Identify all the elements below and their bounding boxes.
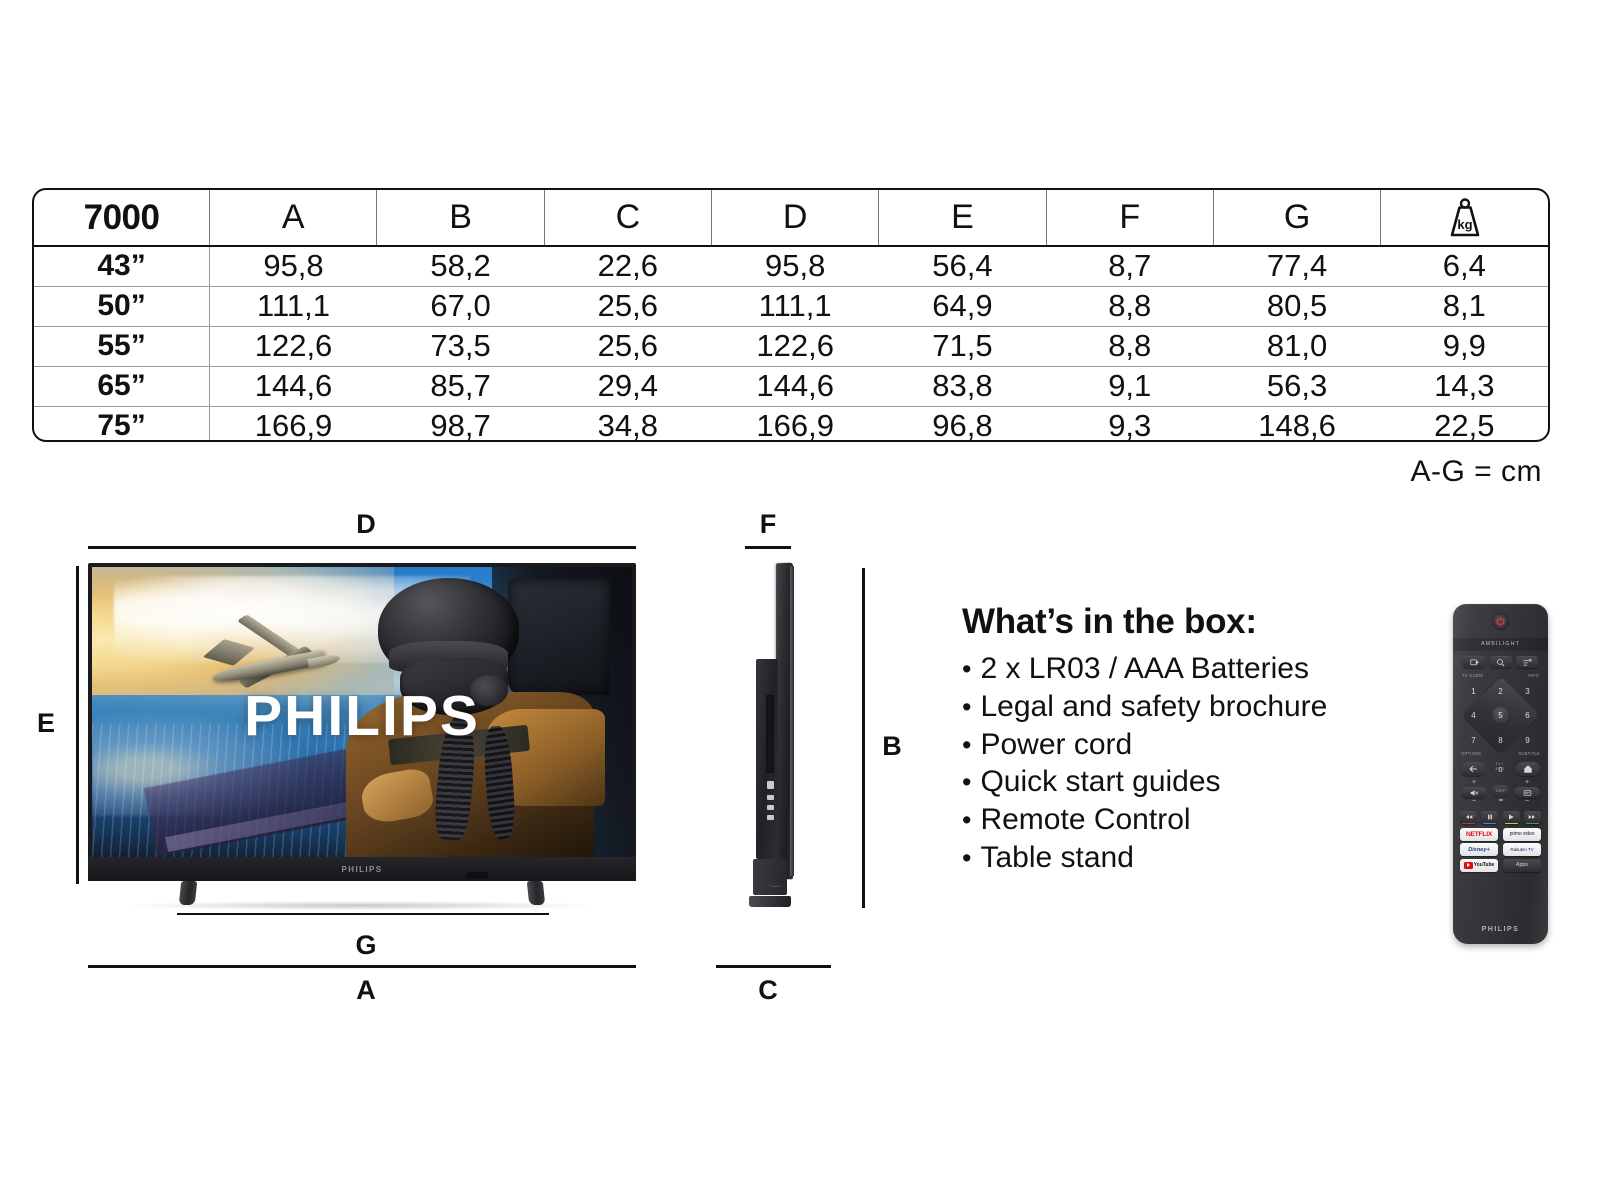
cell-55-c: 25,6 xyxy=(544,326,711,366)
remote-control: AMBILIGHT TV GU xyxy=(1453,604,1548,944)
remote-power-zone xyxy=(1460,604,1541,638)
status-led xyxy=(1499,799,1503,801)
volume-rocker[interactable]: + − xyxy=(1461,780,1487,806)
rakuten-tv-button[interactable]: Rakuten TV xyxy=(1503,843,1541,856)
row-size-75: 75” xyxy=(34,406,210,442)
source-input-button[interactable] xyxy=(1463,656,1485,668)
ambilight-label: AMBILIGHT xyxy=(1453,638,1548,651)
netflix-button[interactable]: NETFLIX xyxy=(1460,828,1498,841)
list-item: • 2 x LR03 / AAA Batteries xyxy=(962,650,1392,688)
bullet-icon: • xyxy=(962,732,971,759)
bullet-icon: • xyxy=(962,769,971,796)
cell-75-e: 96,8 xyxy=(879,406,1046,442)
zero-key-label: TV / EXIT xyxy=(1496,761,1506,771)
channel-minus-label: − xyxy=(1514,799,1540,805)
dim-line-g xyxy=(177,913,549,915)
cell-43-d: 95,8 xyxy=(712,246,879,286)
tv-drop-shadow xyxy=(124,901,594,910)
cell-65-weight: 14,3 xyxy=(1381,366,1548,406)
box-item-label: Quick start guides xyxy=(980,763,1220,801)
box-item-label: Remote Control xyxy=(980,801,1190,839)
play-button[interactable] xyxy=(1503,811,1520,824)
cell-65-g: 56,3 xyxy=(1213,366,1380,406)
unit-note: A-G = cm xyxy=(1410,455,1542,489)
key-8[interactable]: 8 xyxy=(1487,728,1514,753)
cell-65-d: 144,6 xyxy=(712,366,879,406)
fast-forward-button[interactable] xyxy=(1524,811,1541,824)
table-row: 55” 122,6 73,5 25,6 122,6 71,5 8,8 81,0 … xyxy=(34,326,1548,366)
tv-foot-right xyxy=(527,881,546,905)
box-item-label: Legal and safety brochure xyxy=(980,688,1327,726)
cell-55-d: 122,6 xyxy=(712,326,879,366)
cell-75-weight: 22,5 xyxy=(1381,406,1548,442)
rakuten-tv-label: Rakuten TV xyxy=(1510,847,1533,852)
cell-43-weight: 6,4 xyxy=(1381,246,1548,286)
channel-rocker[interactable]: + − xyxy=(1514,780,1540,806)
tv-antenna-port xyxy=(767,815,774,820)
cell-43-g: 77,4 xyxy=(1213,246,1380,286)
bullet-icon: • xyxy=(962,807,971,834)
table-col-header-d: D xyxy=(712,190,879,246)
channel-list-icon xyxy=(1523,789,1532,797)
list-item: • Table stand xyxy=(962,839,1392,877)
cell-55-b: 73,5 xyxy=(377,326,544,366)
cell-43-b: 58,2 xyxy=(377,246,544,286)
prime-video-button[interactable]: prime video xyxy=(1503,828,1541,841)
row-size-43: 43” xyxy=(34,246,210,286)
settings-list-button[interactable] xyxy=(1516,656,1538,668)
dimensions-table: 7000 A B C D E F G kg xyxy=(32,188,1550,442)
tv-usb-port-1 xyxy=(767,795,774,800)
cell-55-weight: 9,9 xyxy=(1381,326,1548,366)
dim-label-d: D xyxy=(336,511,396,538)
cell-43-e: 56,4 xyxy=(879,246,1046,286)
cell-75-b: 98,7 xyxy=(377,406,544,442)
cell-65-c: 29,4 xyxy=(544,366,711,406)
bullet-icon: • xyxy=(962,656,971,683)
app-row-3: YouTube Apps xyxy=(1460,859,1541,872)
screen-philips-wordmark: PHILIPS xyxy=(92,683,632,749)
fast-forward-icon xyxy=(1528,813,1536,821)
apps-button[interactable]: Apps xyxy=(1503,859,1541,872)
product-spec-sheet: 7000 A B C D E F G kg xyxy=(0,0,1600,1200)
table-col-header-e: E xyxy=(879,190,1046,246)
cell-43-c: 22,6 xyxy=(544,246,711,286)
apps-label: Apps xyxy=(1516,862,1528,868)
tv-ir-receiver xyxy=(466,872,488,879)
search-icon xyxy=(1496,658,1505,667)
tv-screen: PHILIPS xyxy=(92,567,632,857)
tv-hdmi-port xyxy=(767,781,774,789)
prime-video-label: prime video xyxy=(1510,832,1535,837)
table-row: 65” 144,6 85,7 29,4 144,6 83,8 9,1 56,3 … xyxy=(34,366,1548,406)
tv-port-recess xyxy=(766,695,774,773)
netflix-label: NETFLIX xyxy=(1466,831,1492,838)
cell-55-a: 122,6 xyxy=(210,326,377,366)
key-9[interactable]: 9 xyxy=(1514,728,1541,753)
tv-front-view: PHILIPS PHILIPS xyxy=(88,563,636,907)
pause-icon xyxy=(1486,813,1494,821)
disney-plus-label: Disney+ xyxy=(1468,847,1490,853)
back-arrow-icon xyxy=(1468,764,1478,774)
cell-50-f: 8,8 xyxy=(1046,286,1213,326)
keypad-info-label: INFO xyxy=(1528,673,1539,678)
cell-43-f: 8,7 xyxy=(1046,246,1213,286)
pause-color-strip xyxy=(1483,823,1496,824)
dim-label-e: E xyxy=(26,710,66,737)
table-model-header: 7000 xyxy=(34,190,210,246)
back-button[interactable] xyxy=(1461,762,1485,776)
remote-keypad: TV GUIDE INFO OPTIONS SUBTITLE 1 2 3 4 5… xyxy=(1460,673,1541,757)
tv-stand-feet xyxy=(88,881,636,907)
home-button[interactable] xyxy=(1516,762,1540,776)
box-item-label: Power cord xyxy=(980,726,1132,764)
pause-button[interactable] xyxy=(1481,811,1498,824)
tv-stand-neck-detail xyxy=(768,882,782,887)
tv-stand-neck xyxy=(753,859,787,895)
cell-65-a: 144,6 xyxy=(210,366,377,406)
dim-line-f xyxy=(745,546,791,549)
youtube-label: YouTube xyxy=(1474,862,1495,868)
volume-mute-icon xyxy=(1470,789,1479,797)
cell-50-b: 67,0 xyxy=(377,286,544,326)
key-7[interactable]: 7 xyxy=(1460,728,1487,753)
remote-rocker-row: + − CH·P + xyxy=(1460,778,1541,808)
youtube-button[interactable]: YouTube xyxy=(1460,859,1498,872)
table-col-header-weight: kg xyxy=(1381,190,1548,246)
channel-plus-label: + xyxy=(1514,780,1540,786)
rewind-icon xyxy=(1465,813,1473,821)
cell-50-g: 80,5 xyxy=(1213,286,1380,326)
disney-plus-button[interactable]: Disney+ xyxy=(1460,843,1498,856)
remote-nav-row: TV / EXIT 0 xyxy=(1460,759,1541,778)
key-6[interactable]: 6 xyxy=(1514,704,1541,729)
tv-stand-base xyxy=(749,896,791,907)
list-item: • Quick start guides xyxy=(962,763,1392,801)
dim-label-f: F xyxy=(748,511,788,538)
dim-label-b: B xyxy=(872,733,912,760)
whats-in-the-box-section: What’s in the box: • 2 x LR03 / AAA Batt… xyxy=(962,602,1392,877)
dim-line-d xyxy=(88,546,636,549)
table-row: 50” 111,1 67,0 25,6 111,1 64,9 8,8 80,5 … xyxy=(34,286,1548,326)
channel-play-button[interactable]: CH·P xyxy=(1493,785,1508,798)
key-3[interactable]: 3 xyxy=(1514,679,1541,704)
box-item-label: 2 x LR03 / AAA Batteries xyxy=(980,650,1309,688)
svg-text:kg: kg xyxy=(1457,217,1472,232)
dim-line-c xyxy=(716,965,831,968)
play-icon xyxy=(1507,813,1515,821)
key-4[interactable]: 4 xyxy=(1460,704,1487,729)
table-row: 75” 166,9 98,7 34,8 166,9 96,8 9,3 148,6… xyxy=(34,406,1548,442)
dim-line-e xyxy=(76,566,79,884)
settings-list-icon xyxy=(1523,658,1532,667)
tv-side-panel-edge xyxy=(790,566,794,876)
dim-line-a xyxy=(88,965,636,968)
forward-color-strip xyxy=(1526,823,1539,824)
jet-tail xyxy=(203,639,255,665)
cell-75-d: 166,9 xyxy=(712,406,879,442)
volume-rocker-body[interactable] xyxy=(1461,787,1487,798)
tv-usb-port-2 xyxy=(767,805,774,810)
table-col-header-c: C xyxy=(544,190,711,246)
table-col-header-f: F xyxy=(1046,190,1213,246)
power-icon xyxy=(1495,616,1506,627)
tv-foot-left xyxy=(179,881,198,905)
volume-plus-label: + xyxy=(1461,780,1487,786)
power-button[interactable] xyxy=(1492,613,1509,630)
table-col-header-a: A xyxy=(210,190,377,246)
cell-55-f: 8,8 xyxy=(1046,326,1213,366)
key-5[interactable]: 5 xyxy=(1487,704,1514,729)
app-row-2: Disney+ Rakuten TV xyxy=(1460,843,1541,856)
dim-line-b xyxy=(862,568,865,908)
cell-55-g: 81,0 xyxy=(1213,326,1380,366)
home-icon xyxy=(1523,764,1533,774)
cell-50-e: 64,9 xyxy=(879,286,1046,326)
table-col-header-g: G xyxy=(1213,190,1380,246)
cell-50-d: 111,1 xyxy=(712,286,879,326)
cell-75-a: 166,9 xyxy=(210,406,377,442)
rewind-color-strip xyxy=(1462,823,1475,824)
remote-playback-row xyxy=(1460,808,1541,826)
dim-label-c: C xyxy=(748,977,788,1004)
cell-75-c: 34,8 xyxy=(544,406,711,442)
volume-minus-label: − xyxy=(1461,799,1487,805)
list-item: • Power cord xyxy=(962,726,1392,764)
app-row-1: NETFLIX prime video xyxy=(1460,828,1541,841)
tv-rear-housing xyxy=(756,659,778,859)
key-2[interactable]: 2 xyxy=(1487,679,1514,704)
keypad-tv-guide-label: TV GUIDE xyxy=(1462,673,1483,678)
youtube-play-icon xyxy=(1464,862,1473,869)
numeric-keypad: 1 2 3 4 5 6 7 8 9 xyxy=(1460,679,1541,753)
box-section-title: What’s in the box: xyxy=(962,602,1392,642)
cell-75-g: 148,6 xyxy=(1213,406,1380,442)
channel-rocker-body[interactable] xyxy=(1514,787,1540,798)
tv-bezel: PHILIPS PHILIPS xyxy=(88,563,636,881)
row-size-55: 55” xyxy=(34,326,210,366)
weight-kg-icon: kg xyxy=(1448,198,1482,238)
table-row: 43” 95,8 58,2 22,6 95,8 56,4 8,7 77,4 6,… xyxy=(34,246,1548,286)
cell-50-a: 111,1 xyxy=(210,286,377,326)
table-header-row: 7000 A B C D E F G kg xyxy=(34,190,1548,246)
tv-side-view xyxy=(737,563,799,913)
box-contents-list: • 2 x LR03 / AAA Batteries • Legal and s… xyxy=(962,650,1392,877)
youtube-logo: YouTube xyxy=(1464,862,1495,869)
cell-65-f: 9,1 xyxy=(1046,366,1213,406)
dim-label-g: G xyxy=(336,932,396,959)
cell-50-weight: 8,1 xyxy=(1381,286,1548,326)
channel-play-label: CH·P xyxy=(1496,789,1505,793)
cell-55-e: 71,5 xyxy=(879,326,1046,366)
play-color-strip xyxy=(1505,823,1518,824)
cell-75-f: 9,3 xyxy=(1046,406,1213,442)
bullet-icon: • xyxy=(962,845,971,872)
search-button[interactable] xyxy=(1490,656,1512,668)
row-size-50: 50” xyxy=(34,286,210,326)
list-item: • Legal and safety brochure xyxy=(962,688,1392,726)
tv-bezel-logo: PHILIPS xyxy=(342,865,383,874)
row-size-65: 65” xyxy=(34,366,210,406)
tv-bottom-bezel: PHILIPS xyxy=(88,857,636,881)
box-item-label: Table stand xyxy=(980,839,1133,877)
dim-label-a: A xyxy=(336,977,396,1004)
cell-43-a: 95,8 xyxy=(210,246,377,286)
list-item: • Remote Control xyxy=(962,801,1392,839)
remote-app-buttons: NETFLIX prime video Disney+ Rakuten TV xyxy=(1460,826,1541,872)
source-input-icon xyxy=(1470,658,1479,667)
cell-65-b: 85,7 xyxy=(377,366,544,406)
key-1[interactable]: 1 xyxy=(1460,679,1487,704)
rewind-button[interactable] xyxy=(1460,811,1477,824)
remote-brand-logo: PHILIPS xyxy=(1453,926,1548,933)
bullet-icon: • xyxy=(962,694,971,721)
cell-50-c: 25,6 xyxy=(544,286,711,326)
cell-65-e: 83,8 xyxy=(879,366,1046,406)
table-col-header-b: B xyxy=(377,190,544,246)
remote-top-button-row xyxy=(1460,651,1541,672)
